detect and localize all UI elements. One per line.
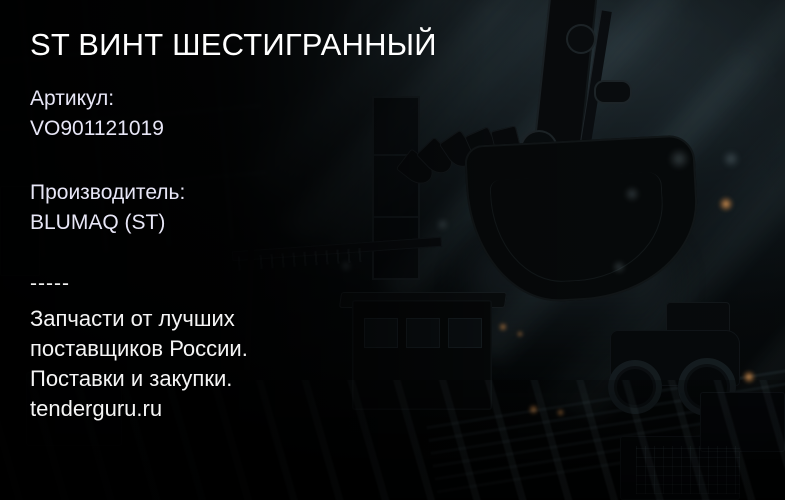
article-value: VO901121019 — [30, 114, 164, 144]
article-label: Артикул: — [30, 84, 164, 114]
tagline-block: Запчасти от лучших поставщиков России. П… — [30, 304, 248, 424]
section-divider: ----- — [30, 272, 70, 296]
manufacturer-label: Производитель: — [30, 178, 185, 208]
article-field: Артикул: VO901121019 — [30, 84, 164, 144]
tagline-line-2: поставщиков России. — [30, 334, 248, 364]
manufacturer-field: Производитель: BLUMAQ (ST) — [30, 178, 185, 238]
tagline-line-1: Запчасти от лучших — [30, 304, 248, 334]
site-url: tenderguru.ru — [30, 394, 248, 424]
banner-content: ST ВИНТ ШЕСТИГРАННЫЙ Артикул: VO90112101… — [0, 0, 785, 500]
product-banner-card: ST ВИНТ ШЕСТИГРАННЫЙ Артикул: VO90112101… — [0, 0, 785, 500]
product-title: ST ВИНТ ШЕСТИГРАННЫЙ — [30, 27, 437, 63]
tagline-line-3: Поставки и закупки. — [30, 364, 248, 394]
manufacturer-value: BLUMAQ (ST) — [30, 208, 185, 238]
